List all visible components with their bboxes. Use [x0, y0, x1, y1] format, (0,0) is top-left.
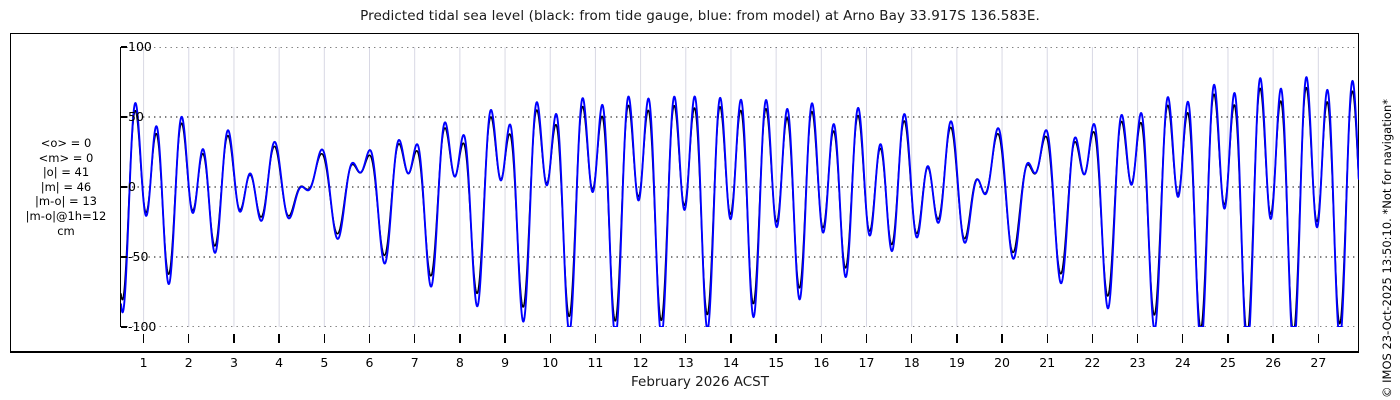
x-axis-label: 15 [768, 355, 784, 370]
y-axis-tick [121, 116, 127, 117]
x-axis-line [10, 352, 1359, 353]
x-axis-tick [775, 334, 776, 343]
x-axis-tick [459, 334, 460, 343]
x-axis-tick [1047, 334, 1048, 343]
x-axis-label: 27 [1310, 355, 1326, 370]
x-axis-tick [504, 334, 505, 343]
x-axis-tick [866, 334, 867, 343]
x-axis-label: 18 [904, 355, 920, 370]
y-axis-tick [121, 326, 127, 327]
x-axis-tick [911, 334, 912, 343]
x-axis-tick [1227, 334, 1228, 343]
x-axis-tick [369, 334, 370, 343]
x-axis-label: 14 [723, 355, 739, 370]
y-axis-label: -100 [128, 319, 156, 334]
x-axis-label: 22 [1084, 355, 1100, 370]
x-axis-label: 6 [366, 355, 374, 370]
x-axis-label: 9 [501, 355, 509, 370]
tidal-series-plot [121, 47, 1359, 327]
x-axis-label: 25 [1220, 355, 1236, 370]
x-axis-tick [730, 334, 731, 343]
tidal-chart-page: Predicted tidal sea level (black: from t… [0, 0, 1400, 400]
x-axis-tick [1318, 334, 1319, 343]
stat-units: cm [14, 224, 118, 239]
x-axis-label: 19 [949, 355, 965, 370]
credit-text: © IMOS 23-Oct-2025 13:50:10. *Not for na… [1380, 99, 1394, 398]
x-axis-label: 24 [1175, 355, 1191, 370]
x-axis-label: 20 [994, 355, 1010, 370]
stat-abs-model: |m| = 46 [14, 180, 118, 195]
x-axis-label: 16 [813, 355, 829, 370]
stat-abs-diff-1h: |m-o|@1h=12 [14, 209, 118, 224]
x-axis-tick [324, 334, 325, 343]
x-axis-label: 13 [678, 355, 694, 370]
x-axis-label: 11 [587, 355, 603, 370]
x-axis-tick [1272, 334, 1273, 343]
x-axis-tick [550, 334, 551, 343]
series-line-observed [121, 88, 1359, 327]
x-axis-label: 26 [1265, 355, 1281, 370]
y-axis-label: 100 [128, 39, 152, 54]
x-axis-label: 10 [542, 355, 558, 370]
credit-block: © IMOS 23-Oct-2025 13:50:10. *Not for na… [1380, 0, 1398, 400]
x-axis-tick [1092, 334, 1093, 343]
x-axis-tick [595, 334, 596, 343]
horizontal-gridlines [121, 47, 1359, 327]
x-axis-label: 3 [230, 355, 238, 370]
x-axis-tick [956, 334, 957, 343]
x-axis-label: 21 [1039, 355, 1055, 370]
statistics-block: <o> = 0 <m> = 0 |o| = 41 |m| = 46 |m-o| … [14, 136, 118, 238]
y-axis-label: 0 [128, 179, 136, 194]
x-axis-tick [188, 334, 189, 343]
x-axis-tick [1137, 334, 1138, 343]
x-axis-label: 17 [859, 355, 875, 370]
x-axis-label: 12 [633, 355, 649, 370]
x-axis-tick [1001, 334, 1002, 343]
x-axis-tick [821, 334, 822, 343]
x-axis-title: February 2026 ACST [0, 374, 1400, 390]
x-axis-tick [1182, 334, 1183, 343]
x-axis-label: 7 [411, 355, 419, 370]
x-axis-tick [414, 334, 415, 343]
plot-area [121, 47, 1359, 327]
stat-abs-diff: |m-o| = 13 [14, 194, 118, 209]
x-axis-label: 4 [275, 355, 283, 370]
x-axis-tick [233, 334, 234, 343]
x-axis-label: 23 [1130, 355, 1146, 370]
stat-mean-model: <m> = 0 [14, 151, 118, 166]
y-axis-label: -50 [128, 249, 148, 264]
x-axis-label: 1 [140, 355, 148, 370]
page-title: Predicted tidal sea level (black: from t… [0, 8, 1400, 24]
y-axis-tick [121, 256, 127, 257]
series-group [121, 77, 1359, 327]
stat-abs-observed: |o| = 41 [14, 165, 118, 180]
y-axis-label: 50 [128, 109, 144, 124]
x-axis-label: 5 [320, 355, 328, 370]
y-axis-tick [121, 186, 127, 187]
x-axis-tick [685, 334, 686, 343]
x-axis-label: 8 [456, 355, 464, 370]
x-axis-tick [278, 334, 279, 343]
x-axis-tick [143, 334, 144, 343]
x-axis-tick [640, 334, 641, 343]
y-axis-tick [121, 46, 127, 47]
stat-mean-observed: <o> = 0 [14, 136, 118, 151]
x-axis-label: 2 [185, 355, 193, 370]
